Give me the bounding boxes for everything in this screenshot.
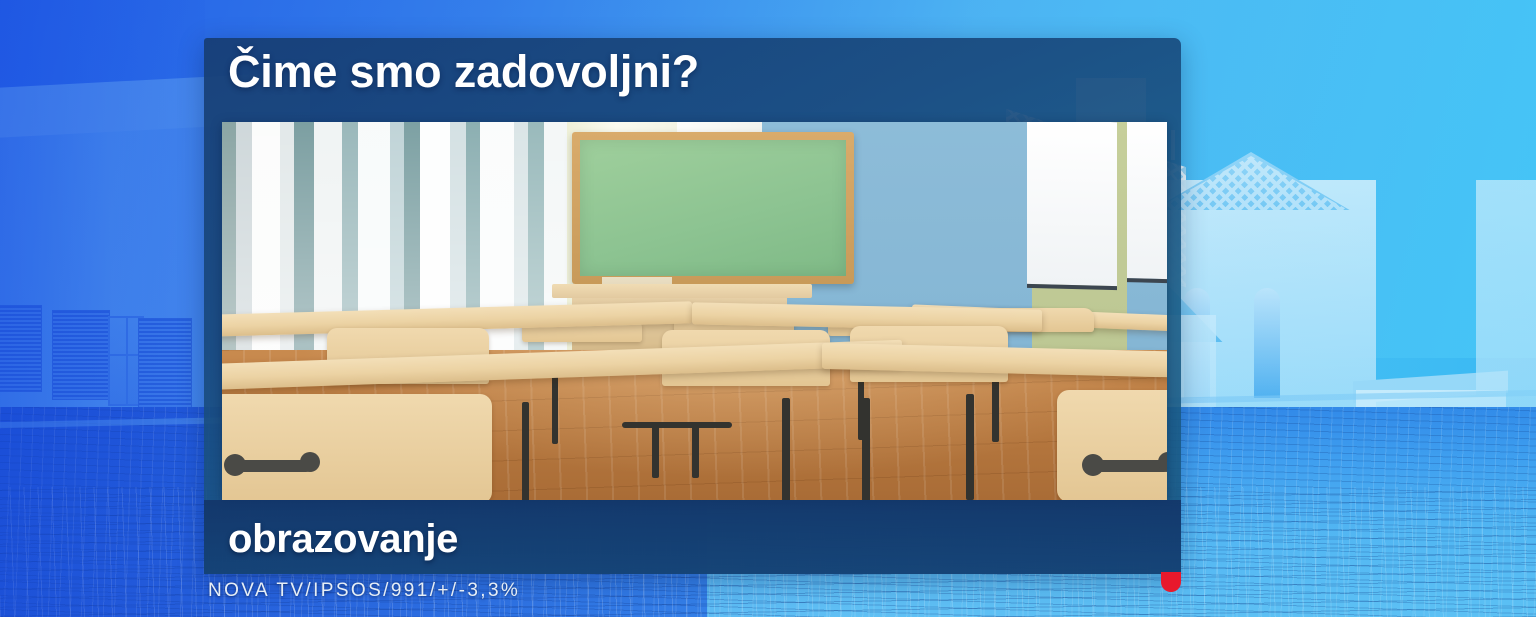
teacher-desk-top <box>552 284 812 298</box>
desk-leg <box>966 394 974 500</box>
classroom-photo <box>222 122 1167 500</box>
desk-leg <box>782 398 790 500</box>
chalkboard-frame <box>572 132 854 284</box>
caption-bar: obrazovanje <box>204 500 1181 574</box>
wall-poster <box>1127 122 1167 284</box>
chalkboard <box>580 140 846 276</box>
desk-leg <box>692 426 699 478</box>
source-attribution: NOVA TV/IPSOS/991/+/-3,3% <box>208 580 520 602</box>
red-accent-marker <box>1161 572 1181 592</box>
content-panel: Čime smo zadovoljni? <box>204 38 1181 574</box>
chair-front-right <box>1057 390 1167 500</box>
desk-leg <box>652 426 659 478</box>
chair-knob <box>1082 454 1104 476</box>
caption-label: obrazovanje <box>228 517 458 562</box>
broadcast-graphic: Čime smo zadovoljni? <box>0 0 1536 617</box>
chair-knob <box>300 452 320 472</box>
left-edge-shade <box>0 0 205 617</box>
page-title: Čime smo zadovoljni? <box>228 46 699 98</box>
wall-poster <box>1027 122 1117 290</box>
desk-crossbar <box>622 422 732 428</box>
chair-knob <box>224 454 246 476</box>
desk-leg <box>522 402 529 500</box>
desk-leg <box>862 398 870 500</box>
chair-front-left <box>222 394 492 500</box>
